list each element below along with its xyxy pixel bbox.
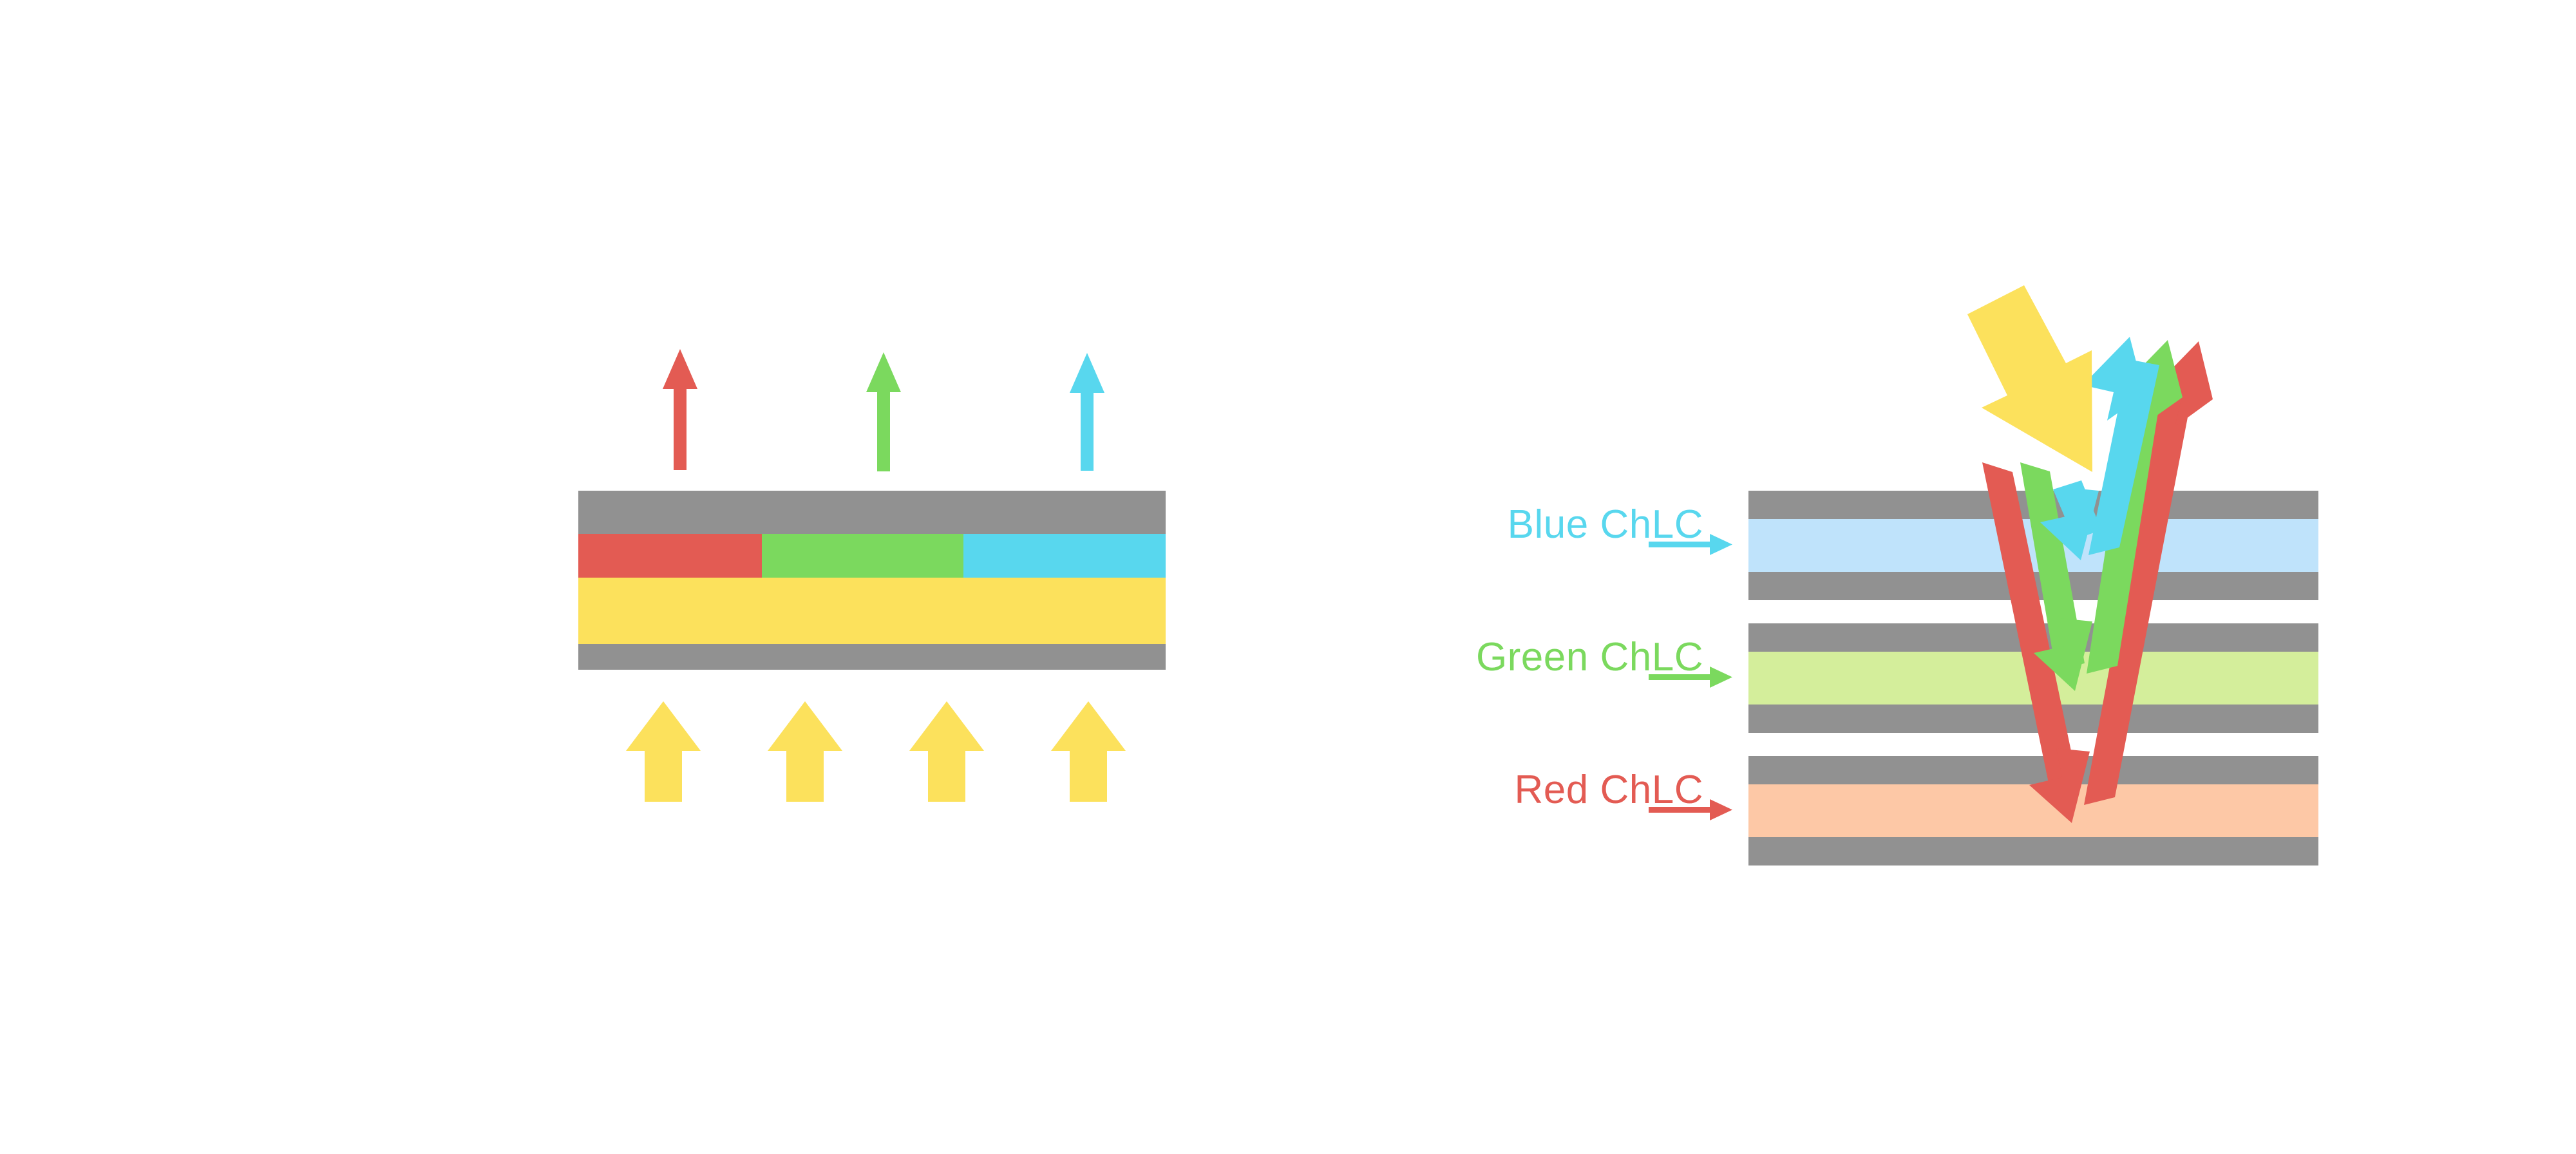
figure-canvas: Blue ChLC Green ChLC Red ChLC [0,0,2576,1154]
color-filter-blue [963,534,1166,578]
red-chlc-layer [1748,784,2318,837]
right-panel-chlc-stack: Blue ChLC Green ChLC Red ChLC [1288,0,2576,1154]
red-label-pointer-arrow [1649,799,1732,820]
blue-emission-arrow [1070,353,1104,471]
backlight-arrow-1 [626,701,701,802]
red-cell-bottom-electrode [1748,837,2318,865]
green-emission-arrow [866,352,901,471]
red-emission-arrow [663,349,697,470]
color-filter-green [762,534,963,578]
left-panel-graphics [0,0,1288,1154]
backlight-arrow-2 [768,701,842,802]
backlight-arrow-3 [909,701,984,802]
right-panel-graphics [1288,0,2576,1154]
blue-label-pointer-arrow [1649,534,1732,555]
red-cell-top-electrode [1748,756,2318,784]
left-panel-transmissive-stack [0,0,1288,1154]
backlight-arrow-4 [1051,701,1126,802]
green-label-pointer-arrow [1649,667,1732,688]
white-light-incident-arrow [1967,285,2092,472]
backlight-layer [578,578,1166,644]
color-filter-red [578,534,762,578]
left-top-electrode [578,491,1166,534]
left-bottom-electrode [578,644,1166,670]
